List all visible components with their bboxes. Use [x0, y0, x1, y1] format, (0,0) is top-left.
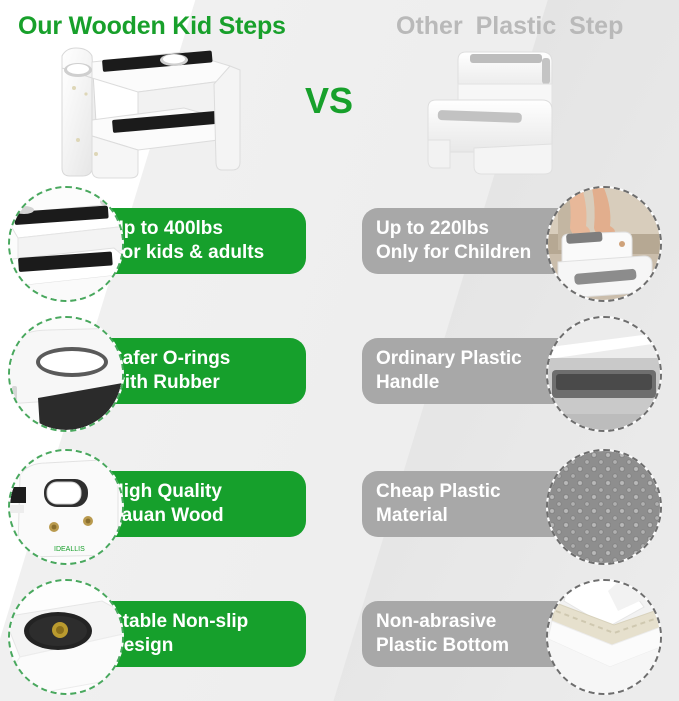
feature-image-right: [546, 579, 662, 695]
non-slip-foot-icon: [10, 581, 122, 693]
page-title-left: Our Wooden Kid Steps: [18, 12, 286, 41]
hero-image-plastic-stool: [414, 44, 574, 180]
badge-line-1: High Quality: [110, 480, 306, 504]
badge-line-1: Up to 400lbs: [110, 217, 306, 241]
feature-image-left: [8, 186, 124, 302]
feature-image-right: [546, 316, 662, 432]
plastic-bottom-icon: [548, 581, 660, 693]
comparison-row: IDEALLIS High Quality Lauan Wood Cheap P…: [0, 443, 679, 573]
feature-image-left: [8, 579, 124, 695]
comparison-row: Safer O-rings with Rubber Ordinary Plast…: [0, 310, 679, 440]
badge-line-1: Safer O-rings: [110, 347, 306, 371]
comparison-row: Up to 400lbs For kids & adults Up to 220…: [0, 180, 679, 310]
badge-line-2: Design: [110, 634, 306, 658]
badge-line-2: For kids & adults: [110, 241, 306, 265]
vs-divider-label: VS: [305, 80, 353, 122]
feature-image-left: IDEALLIS: [8, 449, 124, 565]
child-on-step-icon: [548, 188, 660, 300]
feature-image-right: [546, 449, 662, 565]
badge-line-1: Stable Non-slip: [110, 610, 306, 634]
lauan-wood-panel-icon: IDEALLIS: [10, 451, 122, 563]
comparison-infographic: Our Wooden Kid Steps Other Plastic Step …: [0, 0, 679, 701]
wooden-steps-icon: [10, 188, 122, 300]
comparison-row: Stable Non-slip Design Non-abrasive Plas…: [0, 573, 679, 701]
plastic-handle-icon: [548, 318, 660, 430]
bumpy-plastic-texture: [548, 451, 660, 563]
o-ring-handle-icon: [10, 318, 122, 430]
badge-line-2: with Rubber: [110, 371, 306, 395]
header-row: Our Wooden Kid Steps Other Plastic Step: [0, 0, 679, 50]
feature-image-left: [8, 316, 124, 432]
page-title-right: Other Plastic Step: [396, 12, 623, 41]
hero-image-wooden-stool: [34, 44, 249, 180]
badge-line-2: Lauan Wood: [110, 504, 306, 528]
svg-text:IDEALLIS: IDEALLIS: [54, 546, 85, 553]
feature-image-right: [546, 186, 662, 302]
